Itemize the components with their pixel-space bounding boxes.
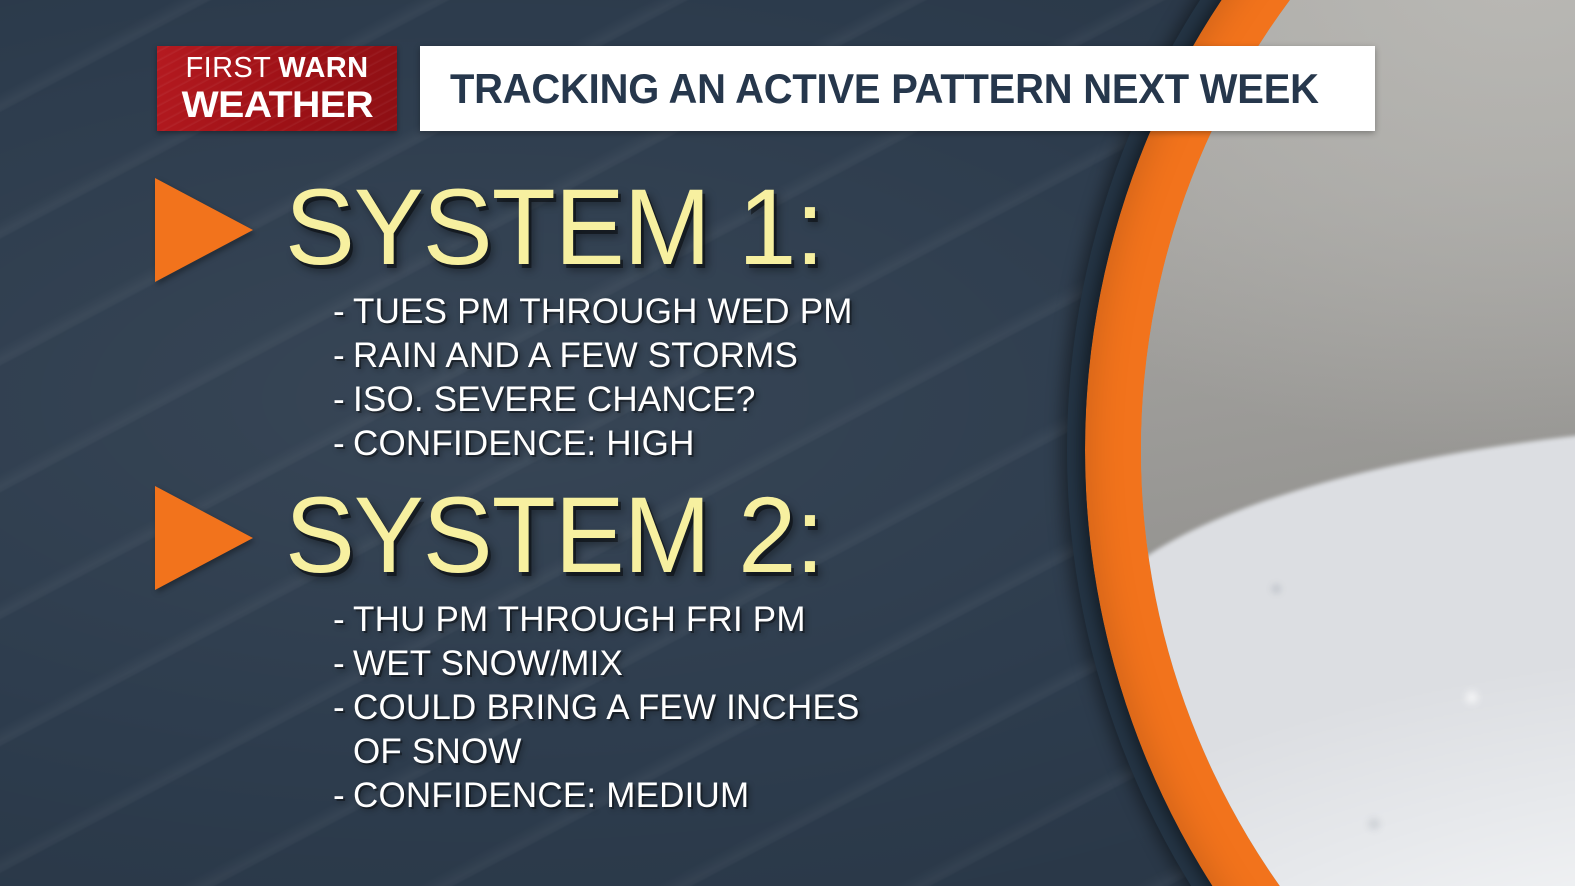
photo-inner-shadow (1085, 0, 1575, 886)
bullet-text: TUES PM THROUGH WED PM (353, 290, 853, 334)
weather-graphic: FIRSTWARN WEATHER TRACKING AN ACTIVE PAT… (0, 0, 1575, 886)
list-item-continuation: - OF SNOW (333, 730, 860, 774)
system-2-block: SYSTEM 2: - THU PM THROUGH FRI PM - WET … (155, 480, 860, 818)
bullet-dash: - (333, 422, 353, 466)
logo-line-one: FIRSTWARN (186, 54, 369, 83)
bullet-text: ISO. SEVERE CHANCE? (353, 378, 756, 422)
snow-photo-panel (1085, 0, 1575, 886)
list-item: - CONFIDENCE: HIGH (333, 422, 853, 466)
bullet-text: CONFIDENCE: MEDIUM (353, 774, 749, 818)
list-item: - CONFIDENCE: MEDIUM (333, 774, 860, 818)
list-item: - TUES PM THROUGH WED PM (333, 290, 853, 334)
page-title: TRACKING AN ACTIVE PATTERN NEXT WEEK (450, 65, 1319, 113)
logo-word-first: FIRST (186, 52, 272, 84)
system-1-heading: SYSTEM 1: (285, 170, 824, 283)
logo-word-warn: WARN (278, 52, 368, 84)
logo-word-weather: WEATHER (181, 86, 373, 123)
bullet-text: THU PM THROUGH FRI PM (353, 598, 806, 642)
bullet-text: OF SNOW (353, 730, 522, 774)
system-2-header: SYSTEM 2: (155, 480, 860, 592)
system-2-bullet-list: - THU PM THROUGH FRI PM - WET SNOW/MIX -… (333, 598, 860, 818)
bullet-dash: - (333, 686, 353, 730)
bullet-dash: - (333, 642, 353, 686)
bullet-dash: - (333, 774, 353, 818)
system-1-block: SYSTEM 1: - TUES PM THROUGH WED PM - RAI… (155, 172, 853, 466)
system-1-header: SYSTEM 1: (155, 172, 853, 284)
bullet-dash: - (333, 290, 353, 334)
list-item: - RAIN AND A FEW STORMS (333, 334, 853, 378)
headline-bar: TRACKING AN ACTIVE PATTERN NEXT WEEK (420, 46, 1375, 131)
play-triangle-icon (155, 486, 253, 590)
bullet-dash: - (333, 378, 353, 422)
bullet-text: CONFIDENCE: HIGH (353, 422, 695, 466)
bullet-text: COULD BRING A FEW INCHES (353, 686, 860, 730)
play-triangle-icon (155, 178, 253, 282)
system-2-heading: SYSTEM 2: (285, 478, 824, 591)
list-item: - WET SNOW/MIX (333, 642, 860, 686)
first-warn-weather-logo: FIRSTWARN WEATHER (157, 46, 397, 131)
bullet-dash: - (333, 334, 353, 378)
list-item: - ISO. SEVERE CHANCE? (333, 378, 853, 422)
bullet-dash: - (333, 598, 353, 642)
list-item: - COULD BRING A FEW INCHES (333, 686, 860, 730)
list-item: - THU PM THROUGH FRI PM (333, 598, 860, 642)
system-1-bullet-list: - TUES PM THROUGH WED PM - RAIN AND A FE… (333, 290, 853, 466)
bullet-text: WET SNOW/MIX (353, 642, 623, 686)
bullet-text: RAIN AND A FEW STORMS (353, 334, 798, 378)
